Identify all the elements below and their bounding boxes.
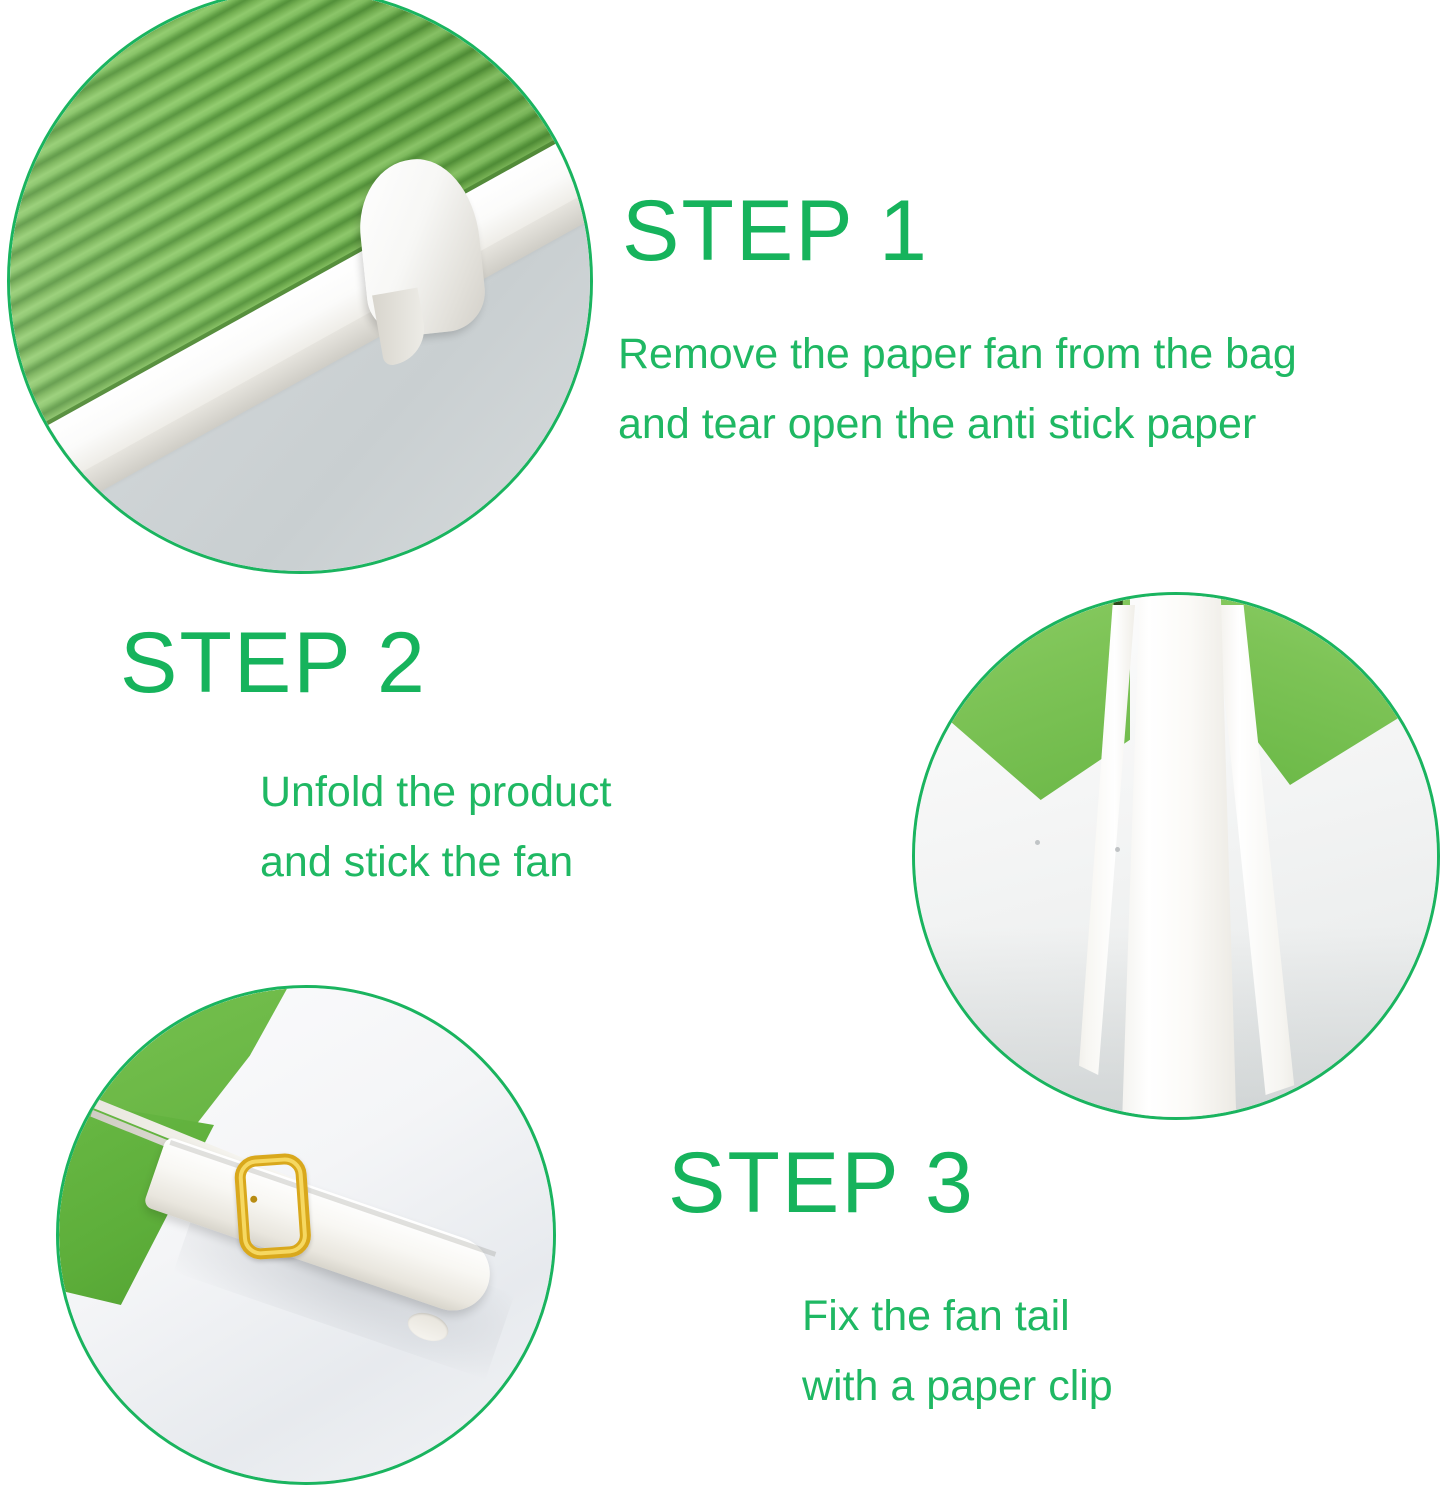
surface-speck [1115,847,1120,852]
instruction-infographic: STEP 1 Remove the paper fan from the bag… [0,0,1445,1498]
step-3-photo [56,985,556,1485]
step-1-photo [7,0,593,574]
step-1-description: Remove the paper fan from the bag and te… [618,320,1297,459]
step-3-line-1: Fix the fan tail [802,1282,1113,1352]
step-2-photo-inner [915,595,1437,1117]
step-1-photo-inner [10,0,590,571]
step-2-photo [912,592,1440,1120]
step-3-text-block: STEP 3 Fix the fan tail with a paper cli… [668,1140,1113,1421]
step-3-description: Fix the fan tail with a paper clip [802,1282,1113,1421]
step-2-line-2: and stick the fan [260,828,611,898]
step-2-text-block: STEP 2 Unfold the product and stick the … [120,620,611,897]
step-1-line-1: Remove the paper fan from the bag [618,320,1297,390]
step-3-line-2: with a paper clip [802,1352,1113,1422]
surface-speck [1035,840,1040,845]
step-2-description: Unfold the product and stick the fan [260,758,611,897]
paper-clip-highlight [238,1156,309,1256]
step-1-line-2: and tear open the anti stick paper [618,390,1297,460]
step-3-title: STEP 3 [668,1140,1113,1226]
step-3-photo-inner [59,988,553,1482]
step-1-text-block: STEP 1 Remove the paper fan from the bag… [618,188,1297,459]
step-1-title: STEP 1 [622,188,1297,274]
step-2-line-1: Unfold the product [260,758,611,828]
step-2-title: STEP 2 [120,620,611,706]
gold-paper-clip-icon [233,1151,324,1267]
